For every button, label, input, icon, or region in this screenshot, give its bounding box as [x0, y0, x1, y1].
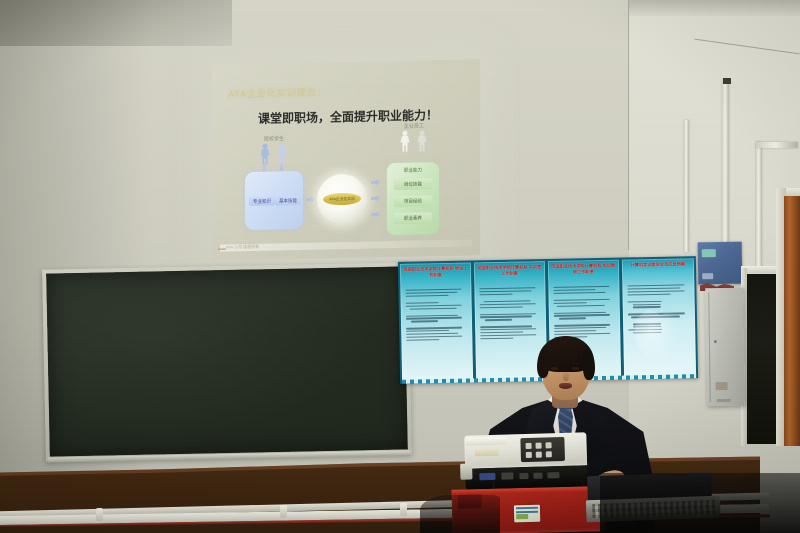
projector-vga-port[interactable] — [479, 473, 495, 480]
figure-head — [263, 144, 268, 149]
projector-badge — [475, 449, 499, 457]
figure-body — [278, 148, 287, 164]
eye-right — [572, 367, 579, 370]
ceiling-right — [629, 0, 800, 16]
projector-control-panel[interactable] — [520, 437, 565, 462]
poster-4-title: 计算机实训室安全及应急预案 — [624, 261, 691, 269]
poster-1-title: 民国职业技术学院计算机系 学生上机制度 — [403, 266, 468, 280]
projector-button-3[interactable] — [545, 442, 551, 448]
sticker-bar — [516, 507, 538, 510]
ability-box-header: 职业能力 — [404, 167, 422, 173]
eyebrow-right — [571, 362, 580, 364]
ability-item-2: 项目经验 — [394, 195, 432, 207]
poster-2-title: 民国职业技术学院计算机系 实训室工作制度 — [477, 264, 542, 278]
sticker-bar-2 — [516, 511, 538, 514]
projector-port-2[interactable] — [501, 472, 513, 479]
panel-warning-mark — [715, 382, 727, 390]
right-group-label: 企业员工 — [404, 122, 424, 129]
figure-body — [418, 135, 427, 151]
projector-port-3[interactable] — [519, 473, 528, 479]
panel-seam — [708, 292, 711, 402]
core-label: ATA企业化实训 — [329, 196, 355, 203]
figure-head — [280, 143, 285, 148]
mouth — [559, 383, 572, 389]
ability-box: 职业能力 岗位技能 项目经验 职业素养 — [387, 162, 439, 235]
core-ellipse: ATA企业化实训 — [323, 193, 361, 206]
knowledge-box: 专业知识 基本技能 — [245, 171, 303, 230]
projected-slide: ATA企业化实训理念： 课堂即职场，全面提升职业能力！ 院校学生 专业知识 基 — [212, 59, 480, 261]
figure-body — [401, 136, 410, 152]
projector-button-2[interactable] — [535, 443, 541, 449]
student-figure-1 — [260, 144, 270, 166]
wall-conduit-right-vertical — [756, 142, 762, 268]
employee-figure-2 — [417, 130, 427, 152]
projector-button-6[interactable] — [546, 451, 552, 457]
foreground-shadow-left — [420, 495, 500, 533]
poster-1-body — [405, 289, 468, 375]
eye-left — [551, 367, 558, 370]
slide-title: ATA企业化实训理念： — [228, 84, 327, 100]
electrical-box-label-secondary — [702, 273, 713, 279]
arrow-to-ability-2 — [371, 195, 380, 201]
chip-professional-knowledge: 专业知识 — [249, 196, 275, 206]
left-group-label: 院校学生 — [264, 135, 284, 142]
figure-body — [261, 149, 270, 165]
pipe-clip-2 — [280, 505, 287, 518]
eyebrow-left — [550, 362, 559, 364]
projector-button-4[interactable] — [526, 452, 532, 458]
chip-basic-skill: 基本技能 — [275, 196, 301, 206]
left-people-group: 院校学生 — [254, 135, 294, 168]
classroom-scene: ATA企业化实训理念： 课堂即职场，全面提升职业能力！ 院校学生 专业知识 基 — [0, 0, 800, 533]
blackboard — [42, 262, 412, 461]
panel-knob[interactable] — [714, 340, 717, 343]
wall-corner-edge — [628, 0, 629, 250]
poster-3-title: 民国职业技术学院计算机系 实训教师工作职责 — [551, 263, 616, 277]
projector-lens — [460, 464, 472, 480]
figure-head — [403, 131, 408, 136]
arrow-to-core — [306, 197, 315, 203]
panel-text-mark — [717, 399, 731, 402]
arrow-to-ability-1 — [371, 179, 380, 185]
projector-button-1[interactable] — [525, 443, 531, 449]
slide-footer-text: ATA 公司 版权所有 — [226, 244, 259, 251]
slide-footer-dash — [218, 248, 226, 250]
podium-asset-sticker — [514, 505, 540, 523]
projector-port-4[interactable] — [533, 473, 542, 479]
wall-conduit-right-horizontal — [756, 142, 798, 148]
sticker-green-block — [516, 514, 528, 519]
nose — [563, 371, 569, 381]
student-figure-2 — [277, 143, 287, 165]
foreground-shadow-right — [600, 473, 800, 533]
employee-figure-1 — [400, 131, 410, 153]
wall-conduit-left — [684, 120, 689, 252]
doorway — [746, 274, 780, 444]
poster-1: 民国职业技术学院计算机系 学生上机制度 — [400, 262, 473, 381]
wood-door[interactable] — [784, 196, 800, 446]
figure-head — [420, 130, 425, 135]
projector-vent — [466, 437, 506, 446]
projector-port-5[interactable] — [547, 472, 559, 478]
right-people-group: 企业员工 — [394, 122, 434, 155]
arrow-to-ability-3 — [371, 211, 380, 217]
electrical-box-label — [702, 249, 716, 257]
hair-side-left — [537, 350, 549, 378]
pipe-clip-3 — [400, 503, 407, 516]
distribution-panel[interactable] — [705, 288, 745, 407]
projector-button-5[interactable] — [536, 452, 542, 458]
ability-item-1: 岗位技能 — [394, 178, 432, 190]
conduit-cap — [723, 78, 731, 84]
blackboard-surface — [46, 266, 408, 456]
pipe-clip-1 — [96, 508, 103, 521]
ata-core-circle: ATA企业化实训 — [317, 174, 367, 225]
electrical-box — [698, 242, 743, 285]
ability-item-3: 职业素养 — [394, 212, 432, 224]
slide-content: ATA企业化实训理念： 课堂即职场，全面提升职业能力！ 院校学生 专业知识 基 — [212, 59, 480, 261]
projector[interactable] — [464, 432, 587, 489]
